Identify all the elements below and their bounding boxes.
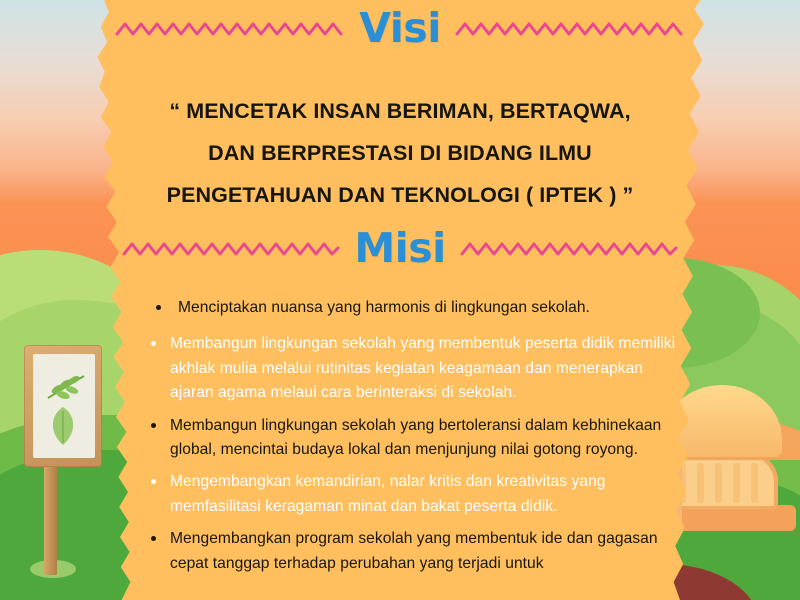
visi-heading-row: Visi: [0, 8, 800, 49]
visi-statement: “ MENCETAK INSAN BERIMAN, BERTAQWA, DAN …: [100, 90, 700, 216]
list-item: Menciptakan nuansa yang harmonis di ling…: [148, 296, 676, 320]
bullet-icon: [151, 536, 156, 541]
list-item-text: Membangun lingkungan sekolah yang memben…: [170, 335, 675, 401]
list-item-text: Mengembangkan program sekolah yang membe…: [170, 530, 658, 571]
visi-line: PENGETAHUAN DAN TEKNOLOGI ( IPTEK ) ”: [100, 174, 700, 216]
bullet-icon: [156, 305, 161, 310]
list-item-text: Menciptakan nuansa yang harmonis di ling…: [178, 299, 590, 316]
bullet-icon: [151, 423, 156, 428]
visi-line: DAN BERPRESTASI DI BIDANG ILMU: [100, 132, 700, 174]
list-item: Mengembangkan program sekolah yang membe…: [148, 527, 676, 576]
zigzag-icon: [460, 236, 678, 262]
bullet-icon: [151, 341, 156, 346]
misi-heading-row: Misi: [0, 228, 800, 269]
bullet-icon: [151, 479, 156, 484]
zigzag-icon: [115, 16, 345, 42]
list-item: Membangun lingkungan sekolah yang bertol…: [148, 414, 676, 463]
visi-line: “ MENCETAK INSAN BERIMAN, BERTAQWA,: [100, 90, 700, 132]
zigzag-icon: [122, 236, 340, 262]
visi-title: Visi: [359, 8, 441, 49]
list-item: Membangun lingkungan sekolah yang memben…: [148, 332, 676, 405]
list-item: Mengembangkan kemandirian, nalar kritis …: [148, 470, 676, 519]
misi-list: Menciptakan nuansa yang harmonis di ling…: [148, 296, 676, 584]
list-item-text: Membangun lingkungan sekolah yang bertol…: [170, 417, 661, 458]
zigzag-icon: [455, 16, 685, 42]
misi-title: Misi: [354, 228, 445, 269]
list-item-text: Mengembangkan kemandirian, nalar kritis …: [170, 473, 606, 514]
poster-root: Visi “ MENCETAK INSAN BERIMAN, BERTAQWA,…: [0, 0, 800, 600]
poster-content: Visi “ MENCETAK INSAN BERIMAN, BERTAQWA,…: [0, 0, 800, 600]
